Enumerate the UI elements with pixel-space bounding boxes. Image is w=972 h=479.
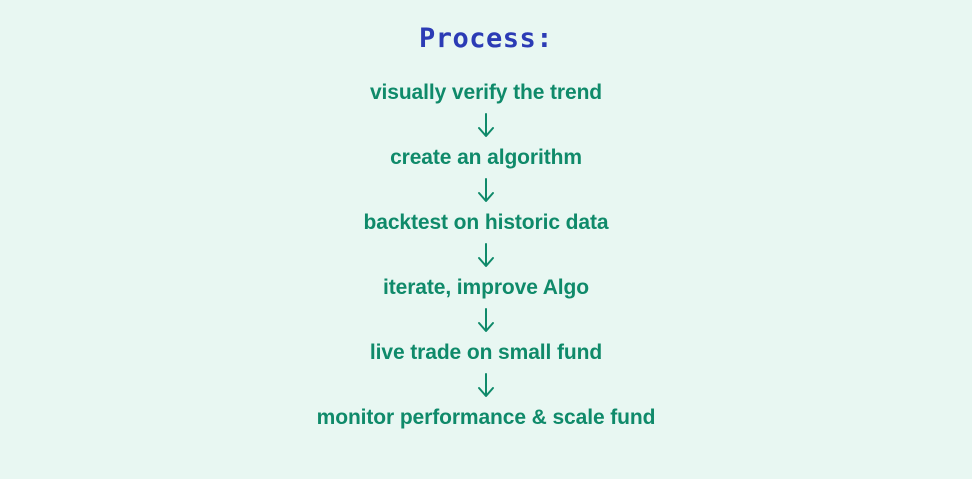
flow-step-list: visually verify the trend create an algo… bbox=[317, 80, 656, 431]
down-arrow-icon bbox=[475, 243, 497, 269]
down-arrow-icon bbox=[475, 308, 497, 334]
down-arrow-icon bbox=[475, 373, 497, 399]
flow-step-1: visually verify the trend bbox=[370, 80, 602, 106]
process-flow-diagram: Process: visually verify the trend creat… bbox=[0, 0, 972, 479]
flow-step-5: live trade on small fund bbox=[370, 340, 602, 366]
flow-step-4: iterate, improve Algo bbox=[383, 275, 589, 301]
flow-step-2: create an algorithm bbox=[390, 145, 582, 171]
flow-step-3: backtest on historic data bbox=[364, 210, 609, 236]
down-arrow-icon bbox=[475, 113, 497, 139]
flow-step-6: monitor performance & scale fund bbox=[317, 405, 656, 431]
page-title: Process: bbox=[419, 22, 553, 56]
down-arrow-icon bbox=[475, 178, 497, 204]
